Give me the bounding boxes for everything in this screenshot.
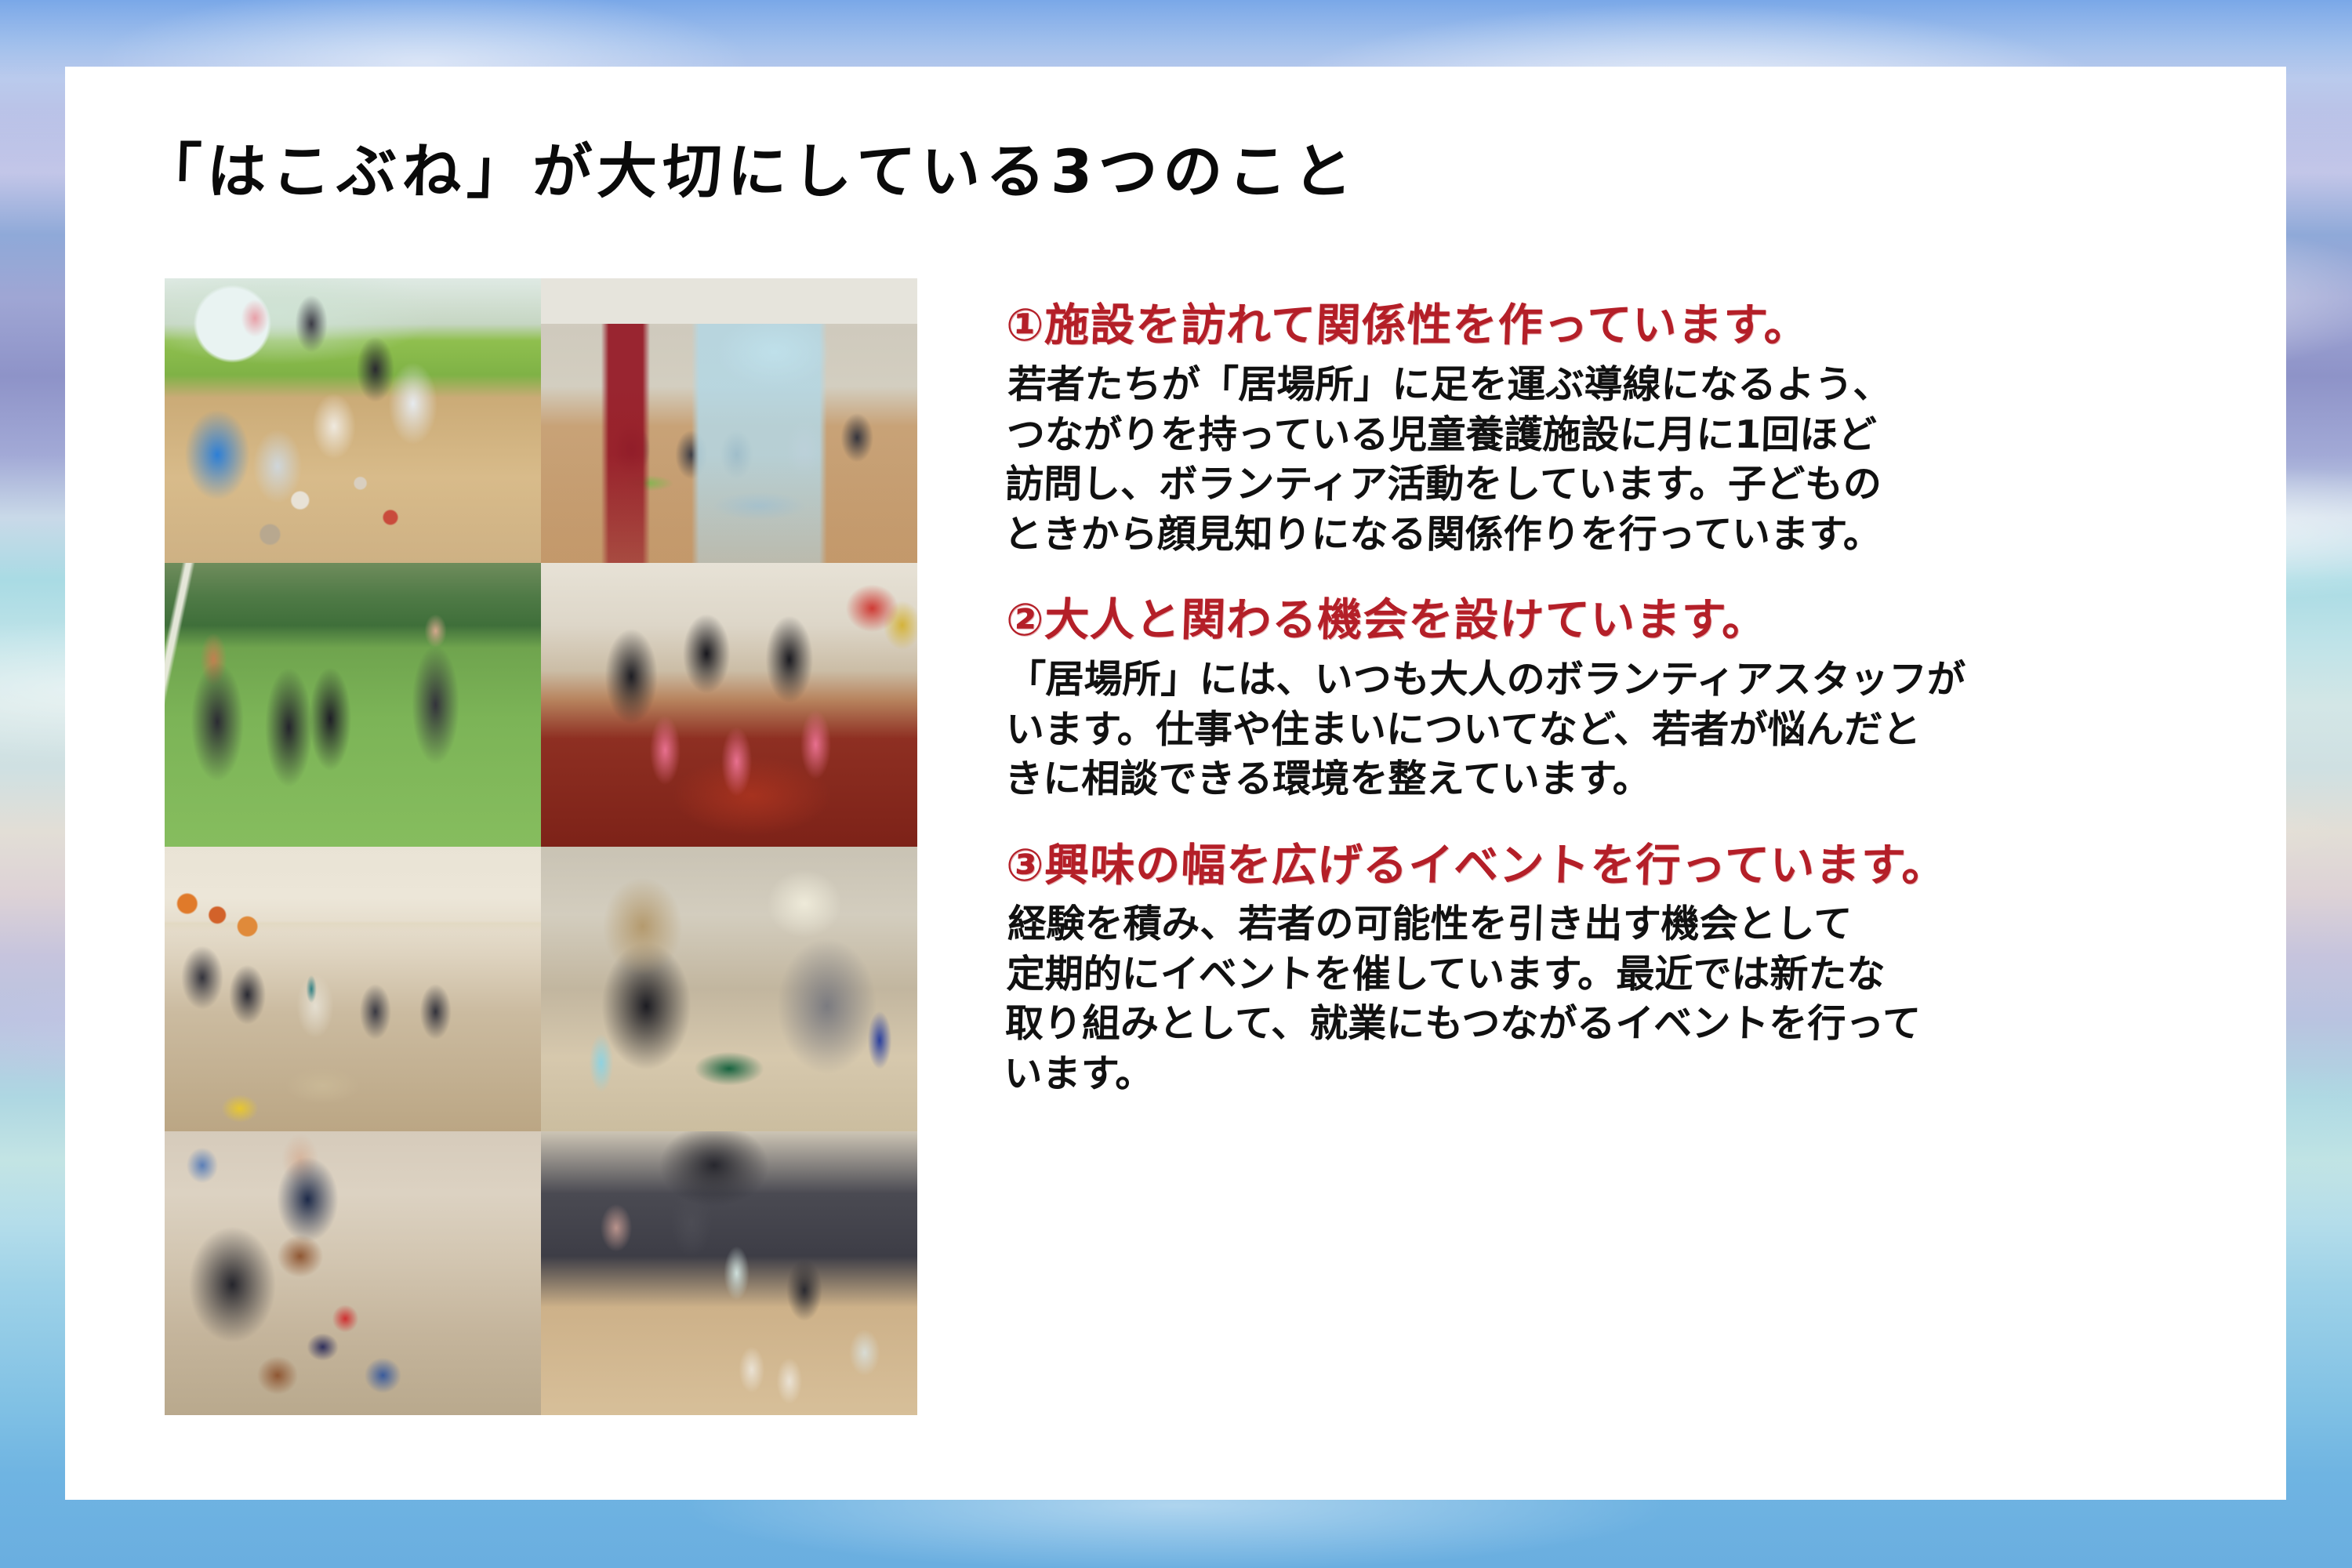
photo-coffee-pour-over [541,1131,917,1416]
photo-projector-screening [541,278,917,563]
page-title: 「はこぶね」が大切にしている3つのこと [140,123,1359,209]
section-2-line-1: 「居場所」には、いつも大人のボランティアスタッフが [1007,655,2231,705]
section-1-body: 若者たちが「居場所」に足を運ぶ導線になるよう、 つながりを持っている児童養護施設… [1004,360,2232,560]
section-3: ③興味の幅を広げるイベントを行っています。 経験を積み、若者の可能性を引き出す機… [1006,839,2229,1099]
section-3-body: 経験を積み、若者の可能性を引き出す機会として 定期的にイベントを催しています。最… [1004,899,2232,1099]
photo-cooking-grinding [165,1131,541,1416]
photo-paper-craft-room [165,278,541,563]
section-1-heading: ①施設を訪れて関係性を作っています。 [1005,299,2230,354]
section-2-line-3: きに相談できる環境を整えています。 [1004,754,2228,804]
section-3-heading: ③興味の幅を広げるイベントを行っています。 [1005,839,2230,894]
section-1-line-3: 訪問し、ボランティア活動をしています。子どもの [1004,459,2229,510]
content-card: 「はこぶね」が大切にしている3つのこと ①施設を訪れて関係性を作っています。 若… [65,67,2286,1500]
section-1-line-4: ときから顔見知りになる関係作りを行っています。 [1004,510,2228,560]
section-2: ②大人と関わる機会を設けています。 「居場所」には、いつも大人のボランティアスタ… [1006,593,2229,804]
section-3-line-1: 経験を積み、若者の可能性を引き出す機会として [1007,899,2232,949]
section-2-body: 「居場所」には、いつも大人のボランティアスタッフが います。仕事や住まいについて… [1004,655,2230,804]
section-1-line-2: つながりを持っている児童養護施設に月に1回ほど [1006,409,2230,459]
section-2-heading: ②大人と関わる機会を設けています。 [1005,593,2230,648]
text-column: ①施設を訪れて関係性を作っています。 若者たちが「居場所」に足を運ぶ導線になるよ… [1006,299,2229,1134]
section-1: ①施設を訪れて関係性を作っています。 若者たちが「居場所」に足を運ぶ導線になるよ… [1006,299,2229,559]
section-3-line-2: 定期的にイベントを催しています。最近では新たな [1006,949,2230,1000]
photo-park-outdoor-activity [165,563,541,848]
section-3-line-4: います。 [1004,1049,2228,1099]
section-1-line-1: 若者たちが「居場所」に足を運ぶ導線になるよう、 [1007,360,2232,410]
section-3-line-3: 取り組みとして、就業にもつながるイベントを行って [1004,1000,2229,1050]
photo-market-event-hall [165,847,541,1131]
photo-othello-board-game [541,847,917,1131]
section-2-line-2: います。仕事や住まいについてなど、若者が悩んだと [1005,705,2230,755]
photo-grid [165,278,917,1415]
photo-kimchi-making [541,563,917,848]
